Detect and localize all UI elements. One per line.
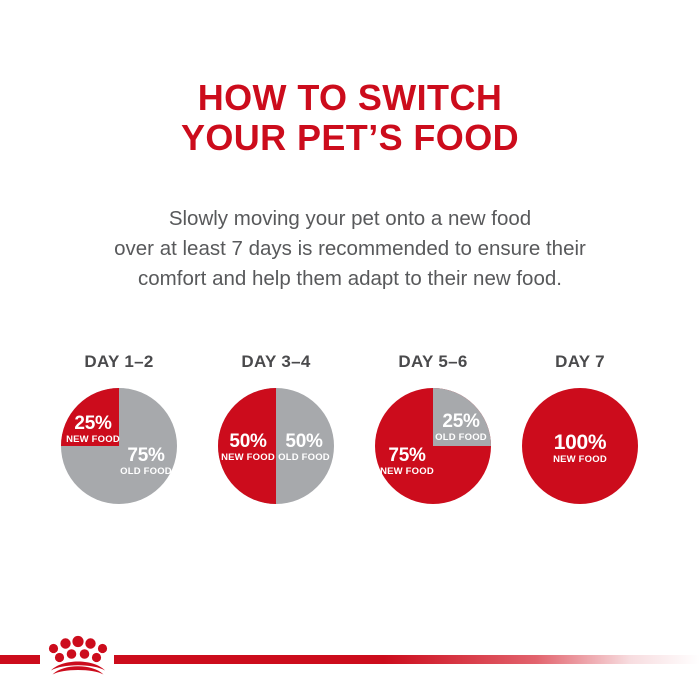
pie-graphic-day-5-6: 25% OLD FOOD 75% NEW FOOD bbox=[375, 388, 491, 504]
royal-canin-crown-icon bbox=[42, 631, 114, 675]
pie-chart-row: DAY 1–2 25% NEW FOOD 75% OLD FOOD bbox=[0, 352, 700, 532]
pie-chart-day-7: DAY 7 100% NEW FOOD bbox=[500, 352, 660, 532]
pie-graphic-day-3-4: 50% NEW FOOD 50% OLD FOOD bbox=[218, 388, 334, 504]
pie-slice-old-food bbox=[433, 388, 491, 446]
page-subtitle-line-3: comfort and help them adapt to their new… bbox=[0, 264, 700, 294]
pie-chart-day-5-6: DAY 5–6 25% OLD FOOD 75% NEW FOOD bbox=[353, 352, 513, 532]
page-subtitle-line-2: over at least 7 days is recommended to e… bbox=[0, 234, 700, 264]
day-label-3: DAY 5–6 bbox=[353, 352, 513, 372]
brand-bar-right-segment bbox=[114, 655, 700, 664]
page-title: HOW TO SWITCH YOUR PET’S FOOD bbox=[0, 78, 700, 158]
page-subtitle: Slowly moving your pet onto a new food o… bbox=[0, 204, 700, 294]
page-title-line-2: YOUR PET’S FOOD bbox=[0, 118, 700, 158]
pie-chart-day-1-2: DAY 1–2 25% NEW FOOD 75% OLD FOOD bbox=[39, 352, 199, 532]
pie-graphic-day-7: 100% NEW FOOD bbox=[522, 388, 638, 504]
brand-bar-left-segment bbox=[0, 655, 40, 664]
page-title-line-1: HOW TO SWITCH bbox=[0, 78, 700, 118]
day-label-2: DAY 3–4 bbox=[196, 352, 356, 372]
infographic-canvas: HOW TO SWITCH YOUR PET’S FOOD Slowly mov… bbox=[0, 0, 700, 700]
pie-chart-day-3-4: DAY 3–4 50% NEW FOOD 50% OLD FOOD bbox=[196, 352, 356, 532]
pie-graphic-day-1-2: 25% NEW FOOD 75% OLD FOOD bbox=[61, 388, 177, 504]
day-label-4: DAY 7 bbox=[500, 352, 660, 372]
pie-slice-new-food bbox=[61, 388, 119, 446]
pie-slice-new-food bbox=[218, 388, 276, 504]
page-subtitle-line-1: Slowly moving your pet onto a new food bbox=[0, 204, 700, 234]
day-label-1: DAY 1–2 bbox=[39, 352, 199, 372]
pie-slice-new-food bbox=[522, 388, 638, 504]
footer-brand-bar bbox=[0, 630, 700, 700]
